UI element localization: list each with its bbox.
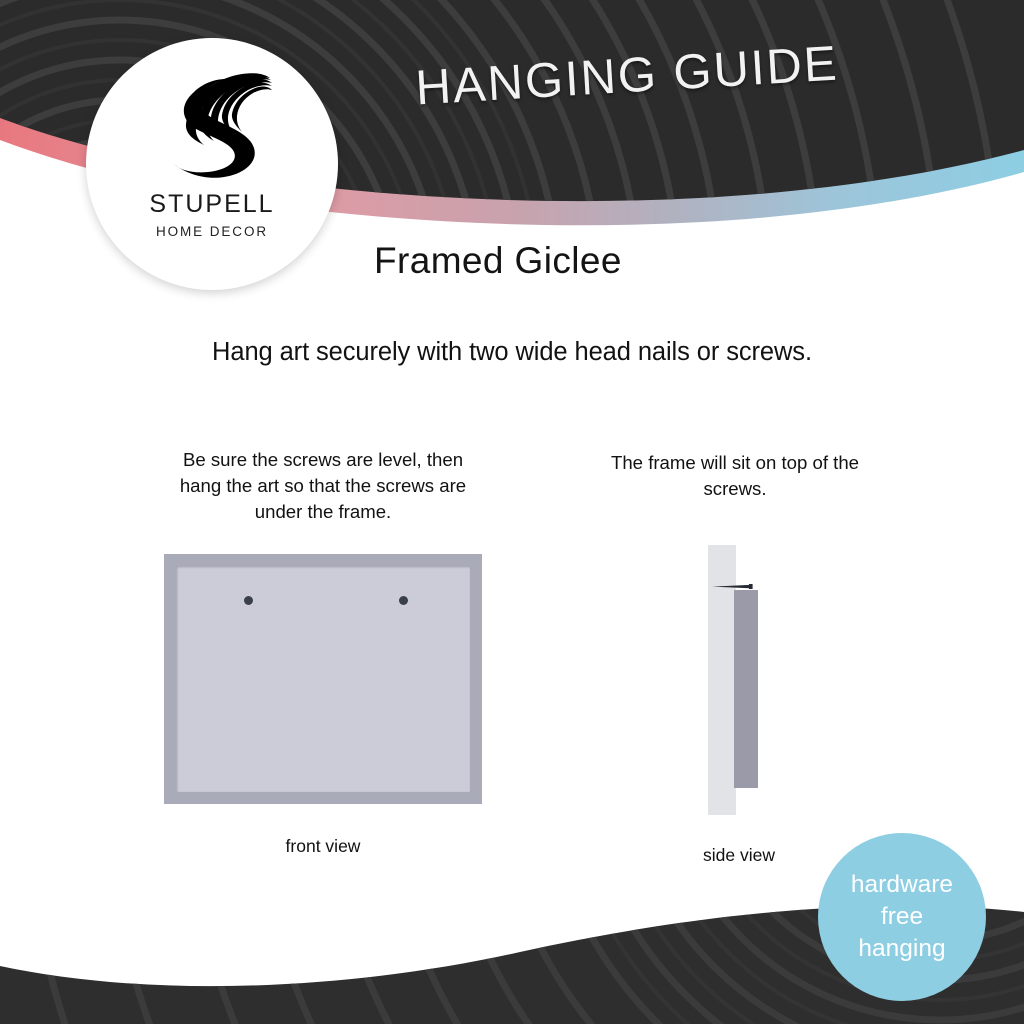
stupell-swoosh-icon — [152, 60, 272, 190]
front-view-label: front view — [200, 836, 446, 857]
side-view-caption: The frame will sit on top of the screws. — [600, 450, 870, 502]
badge-line-2: free — [881, 901, 923, 933]
front-view-diagram — [164, 554, 482, 804]
screw-dot-right — [399, 596, 408, 605]
frame-profile — [734, 590, 758, 788]
front-view-caption: Be sure the screws are level, then hang … — [165, 447, 481, 525]
brand-logo-badge: STUPELL HOME DECOR — [86, 38, 338, 290]
side-view-diagram — [698, 545, 790, 815]
page-title: HANGING GUIDE — [371, 33, 883, 119]
main-instruction: Hang art securely with two wide head nai… — [0, 338, 1024, 367]
badge-line-1: hardware — [851, 869, 953, 901]
screw-dot-left — [244, 596, 253, 605]
hanging-guide-page: HANGING GUIDE STUPELL HOME DECOR Framed … — [0, 0, 1024, 1024]
side-view-label: side view — [660, 845, 818, 866]
hardware-free-badge: hardware free hanging — [818, 833, 986, 1001]
frame-artwork-area — [176, 566, 470, 792]
nail-icon — [712, 584, 756, 589]
brand-name: STUPELL — [149, 192, 274, 217]
product-name: Framed Giclee — [374, 240, 622, 282]
brand-tagline: HOME DECOR — [156, 224, 268, 239]
badge-line-3: hanging — [858, 933, 945, 965]
